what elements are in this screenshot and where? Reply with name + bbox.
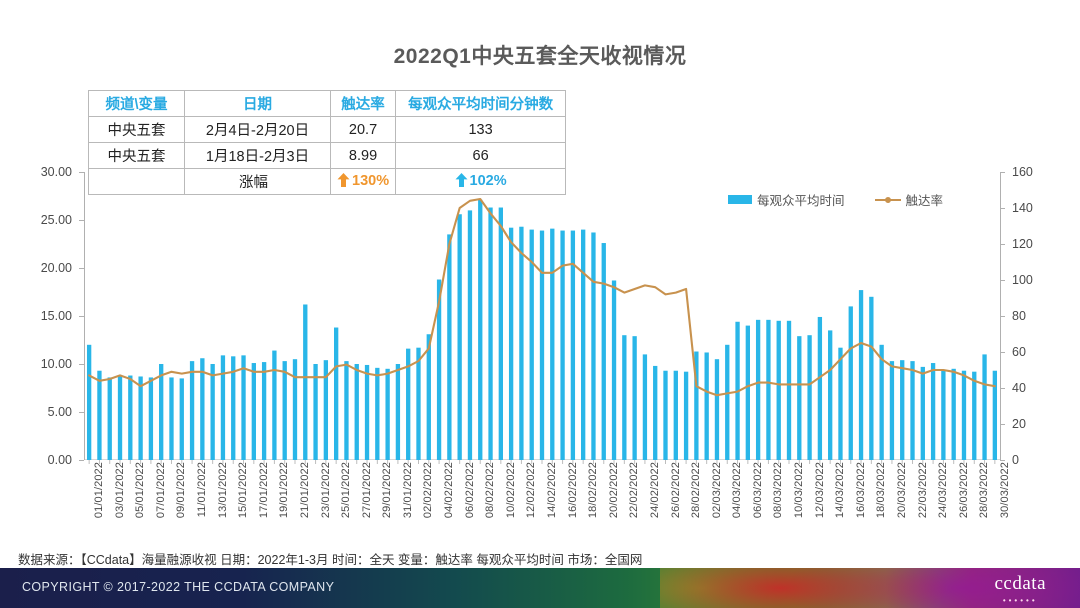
table-row: 中央五套 1月18日-2月3日 8.99 66 — [89, 143, 566, 169]
x-axis-tick-label: 21/01/2022 — [299, 462, 311, 518]
table-header-avg-time: 每观众平均时间分钟数 — [396, 91, 566, 117]
x-axis-tick-label: 09/01/2022 — [175, 462, 187, 518]
x-axis-tick-label: 06/02/2022 — [464, 462, 476, 518]
ccdata-logo: ccdata •••••• — [994, 574, 1046, 605]
table-header-channel: 频道\变量 — [89, 91, 185, 117]
x-axis-tick-label: 13/01/2022 — [217, 462, 229, 518]
y-left-axis-tick-label: 5.00 — [48, 405, 72, 419]
y-right-axis-tick-label: 0 — [1012, 453, 1019, 467]
y-left-axis-tick-label: 10.00 — [41, 357, 72, 371]
y-left-axis-tick-label: 20.00 — [41, 261, 72, 275]
x-axis-tick-label: 04/03/2022 — [731, 462, 743, 518]
y-right-axis-tick-label: 40 — [1012, 381, 1026, 395]
x-axis-tick-label: 16/03/2022 — [855, 462, 867, 518]
copyright-text: COPYRIGHT © 2017-2022 THE CCDATA COMPANY — [22, 580, 334, 594]
x-axis-tick-label: 16/02/2022 — [567, 462, 579, 518]
chart-plot-area — [84, 172, 1000, 460]
table-row: 中央五套 2月4日-2月20日 20.7 133 — [89, 117, 566, 143]
x-tick-marks — [84, 172, 1000, 465]
x-axis-tick-label: 14/02/2022 — [546, 462, 558, 518]
x-axis-tick-label: 11/01/2022 — [196, 462, 208, 517]
x-axis-tick-label: 12/02/2022 — [525, 462, 537, 518]
cell-date: 2月4日-2月20日 — [185, 117, 331, 143]
x-axis-tick-label: 20/02/2022 — [608, 462, 620, 518]
cell-reach: 20.7 — [331, 117, 396, 143]
y-right-axis-tick-label: 80 — [1012, 309, 1026, 323]
x-axis-tick-label: 01/01/2022 — [93, 462, 105, 518]
page-title: 2022Q1中央五套全天收视情况 — [0, 40, 1080, 70]
x-axis: 01/01/202203/01/202205/01/202207/01/2022… — [84, 462, 1000, 542]
x-axis-tick-label: 18/03/2022 — [875, 462, 887, 518]
cell-avg-time: 66 — [396, 143, 566, 169]
y-right-axis-tick-label: 100 — [1012, 273, 1033, 287]
y-right-axis-tick-label: 140 — [1012, 201, 1033, 215]
x-axis-tick-label: 18/02/2022 — [587, 462, 599, 518]
x-axis-tick-label: 10/02/2022 — [505, 462, 517, 518]
table-header-reach: 触达率 — [331, 91, 396, 117]
x-axis-tick-label: 02/03/2022 — [711, 462, 723, 518]
x-axis-tick-label: 25/01/2022 — [340, 462, 352, 518]
x-axis-tick-label: 22/03/2022 — [917, 462, 929, 518]
x-axis-tick-label: 08/02/2022 — [484, 462, 496, 518]
footer-bar: COPYRIGHT © 2017-2022 THE CCDATA COMPANY… — [0, 568, 1080, 608]
x-axis-tick-label: 06/03/2022 — [752, 462, 764, 518]
y-left-axis-tick-label: 30.00 — [41, 165, 72, 179]
logo-text: ccdata — [994, 574, 1046, 593]
y-left-axis-tick-label: 15.00 — [41, 309, 72, 323]
x-axis-tick-label: 26/03/2022 — [958, 462, 970, 518]
x-axis-tick-label: 24/03/2022 — [937, 462, 949, 518]
x-axis-tick-label: 23/01/2022 — [320, 462, 332, 518]
y-right-axis-tick-label: 20 — [1012, 417, 1026, 431]
x-axis-tick-label: 20/03/2022 — [896, 462, 908, 518]
y-right-axis-tick-label: 60 — [1012, 345, 1026, 359]
x-axis-tick-label: 12/03/2022 — [814, 462, 826, 518]
y-right-axis-tick-label: 160 — [1012, 165, 1033, 179]
x-axis-tick-label: 02/02/2022 — [422, 462, 434, 518]
x-axis-tick-label: 05/01/2022 — [134, 462, 146, 518]
x-axis-tick-label: 04/02/2022 — [443, 462, 455, 518]
table-header-date: 日期 — [185, 91, 331, 117]
x-axis-tick-label: 03/01/2022 — [114, 462, 126, 518]
x-axis-tick-label: 08/03/2022 — [772, 462, 784, 518]
x-axis-tick-label: 29/01/2022 — [381, 462, 393, 518]
x-axis-tick-label: 28/02/2022 — [690, 462, 702, 518]
x-axis-tick-label: 31/01/2022 — [402, 462, 414, 518]
cell-date: 1月18日-2月3日 — [185, 143, 331, 169]
source-note: 数据来源：【CCdata】海量融源收视 日期：2022年1-3月 时间：全天 变… — [18, 549, 642, 568]
table-header-row: 频道\变量 日期 触达率 每观众平均时间分钟数 — [89, 91, 566, 117]
x-axis-tick-label: 10/03/2022 — [793, 462, 805, 518]
x-axis-tick-label: 22/02/2022 — [628, 462, 640, 518]
logo-dots: •••••• — [994, 596, 1046, 605]
x-axis-tick-label: 26/02/2022 — [670, 462, 682, 518]
y-right-axis-tick-label: 120 — [1012, 237, 1033, 251]
x-axis-tick-label: 07/01/2022 — [155, 462, 167, 518]
x-axis-tick-label: 27/01/2022 — [361, 462, 373, 518]
x-axis-tick-label: 15/01/2022 — [237, 462, 249, 518]
x-axis-tick-label: 30/03/2022 — [999, 462, 1011, 518]
x-axis-tick-label: 19/01/2022 — [278, 462, 290, 518]
cell-channel: 中央五套 — [89, 143, 185, 169]
cell-avg-time: 133 — [396, 117, 566, 143]
x-axis-tick-label: 28/03/2022 — [978, 462, 990, 518]
cell-channel: 中央五套 — [89, 117, 185, 143]
x-axis-tick-label: 24/02/2022 — [649, 462, 661, 518]
x-axis-tick-label: 17/01/2022 — [258, 462, 270, 518]
cell-reach: 8.99 — [331, 143, 396, 169]
y-right-axis-line — [1000, 172, 1001, 460]
y-left-axis-tick-label: 25.00 — [41, 213, 72, 227]
y-left-axis-tick-label: 0.00 — [48, 453, 72, 467]
x-axis-tick-label: 14/03/2022 — [834, 462, 846, 518]
